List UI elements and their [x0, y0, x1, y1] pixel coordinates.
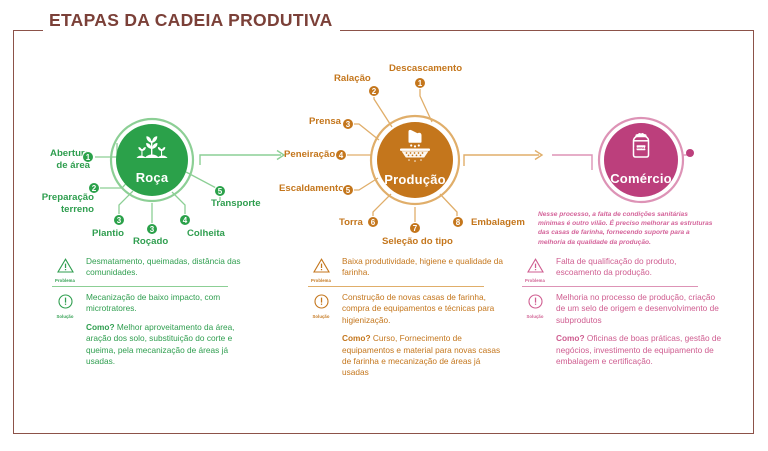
solucao-row-comercio: Solução Melhoria no processo de produção…	[522, 292, 722, 367]
node-badge-3b-roca: 3	[146, 223, 158, 235]
node-badge-8-producao: 8	[452, 216, 464, 228]
detail-column-producao: Problema Baixa produtividade, higiene e …	[308, 256, 508, 379]
solucao-icon-group-producao: Solução	[308, 294, 334, 319]
stage-hub-roca[interactable]: Roça	[116, 124, 188, 196]
stage-label-comercio: Comércio	[610, 171, 672, 197]
node-badge-5-roca: 5	[214, 185, 226, 197]
como-text-producao: Como? Curso, Fornecimento de equipamento…	[342, 333, 508, 379]
node-label-peneiracao[interactable]: Peneiração	[284, 149, 335, 161]
problema-row-producao: Problema Baixa produtividade, higiene e …	[308, 256, 508, 282]
stage-label-producao: Produção	[384, 172, 446, 198]
como-label-roca: Como?	[86, 322, 115, 332]
solucao-row-roca: Solução Mecanização de baixo impacto, co…	[52, 292, 252, 367]
node-label-preparacao[interactable]: Preparaçãoterreno	[36, 192, 94, 215]
column-divider-producao	[308, 286, 484, 287]
node-badge-4-producao: 4	[335, 149, 347, 161]
node-badge-1-roca: 1	[82, 151, 94, 163]
node-badge-6-producao: 6	[367, 216, 379, 228]
svg-text:FARINHA: FARINHA	[634, 146, 649, 150]
node-label-ralacao[interactable]: Ralação	[334, 73, 371, 85]
como-text-comercio: Como? Oficinas de boas práticas, gestão …	[556, 333, 722, 367]
node-label-transporte[interactable]: Transporte	[211, 198, 261, 210]
node-label-selecao[interactable]: Seleção do tipo	[382, 236, 453, 248]
problema-caption: Problema	[522, 278, 548, 283]
warning-triangle-icon	[527, 258, 544, 273]
problema-icon-group: Problema	[52, 258, 78, 283]
solucao-caption: Solução	[522, 314, 548, 319]
como-label-comercio: Como?	[556, 333, 585, 343]
node-label-rocado[interactable]: Roçado	[133, 236, 168, 248]
detail-column-roca: Problema Desmatamento, queimadas, distân…	[52, 256, 252, 367]
comercio-note: Nesse processo, a falta de condições san…	[538, 210, 716, 247]
problema-icon-group-producao: Problema	[308, 258, 334, 283]
sieve-flour-icon	[395, 129, 435, 163]
problema-text-producao: Baixa produtividade, higiene e qualidade…	[342, 256, 508, 279]
warning-triangle-icon	[57, 258, 74, 273]
node-badge-2-roca: 2	[88, 182, 100, 194]
node-badge-3-producao: 3	[342, 118, 354, 130]
problema-caption: Problema	[308, 278, 334, 283]
node-label-torra[interactable]: Torra	[339, 217, 363, 229]
exclamation-circle-icon	[313, 294, 330, 309]
como-label-producao: Como?	[342, 333, 371, 343]
detail-column-comercio: Problema Falta de qualificação do produt…	[522, 256, 722, 367]
problema-row-roca: Problema Desmatamento, queimadas, distân…	[52, 256, 252, 282]
flour-sack-icon: FARINHA	[623, 131, 659, 161]
node-badge-1-producao: 1	[414, 77, 426, 89]
plant-sprout-icon	[135, 134, 169, 160]
solucao-icon-group: Solução	[52, 294, 78, 319]
node-label-embalagem[interactable]: Embalagem	[471, 217, 525, 229]
problema-caption: Problema	[52, 278, 78, 283]
node-badge-4-roca: 4	[179, 214, 191, 226]
node-label-escaldamento[interactable]: Escaldamento	[279, 183, 344, 195]
node-label-colheita[interactable]: Colheita	[187, 228, 225, 240]
problema-row-comercio: Problema Falta de qualificação do produt…	[522, 256, 722, 282]
solucao-text-comercio: Melhoria no processo de produção, criaçã…	[556, 292, 722, 326]
warning-triangle-icon	[313, 258, 330, 273]
node-badge-5-producao: 5	[342, 184, 354, 196]
node-label-prensa[interactable]: Prensa	[309, 116, 341, 128]
solucao-caption: Solução	[308, 314, 334, 319]
stage-label-roca: Roça	[136, 170, 169, 196]
node-label-descascamento[interactable]: Descascamento	[389, 63, 462, 75]
problema-text-comercio: Falta de qualificação do produto, escoam…	[556, 256, 722, 279]
column-divider-roca	[52, 286, 228, 287]
exclamation-circle-icon	[57, 294, 74, 309]
diagram-stage: Roça Aberturade área 1 Preparaçãoterreno…	[0, 0, 768, 451]
node-badge-2-producao: 2	[368, 85, 380, 97]
solucao-caption: Solução	[52, 314, 78, 319]
node-badge-3-roca: 3	[113, 214, 125, 226]
stage-hub-comercio[interactable]: FARINHA Comércio	[604, 123, 678, 197]
solucao-text-roca: Mecanização de baixo impacto, com microt…	[86, 292, 252, 315]
problema-icon-group-comercio: Problema	[522, 258, 548, 283]
problema-text-roca: Desmatamento, queimadas, distância das c…	[86, 256, 252, 279]
node-badge-7-producao: 7	[409, 222, 421, 234]
node-label-plantio[interactable]: Plantio	[92, 228, 124, 240]
solucao-row-producao: Solução Construção de novas casas de far…	[308, 292, 508, 379]
page-title: ETAPAS DA CADEIA PRODUTIVA	[43, 10, 340, 31]
solucao-text-producao: Construção de novas casas de farinha, co…	[342, 292, 508, 326]
stage-hub-producao[interactable]: Produção	[377, 122, 453, 198]
como-text-roca: Como? Melhor aproveitamento da área, ara…	[86, 322, 252, 368]
solucao-icon-group-comercio: Solução	[522, 294, 548, 319]
exclamation-circle-icon	[527, 294, 544, 309]
column-divider-comercio	[522, 286, 698, 287]
